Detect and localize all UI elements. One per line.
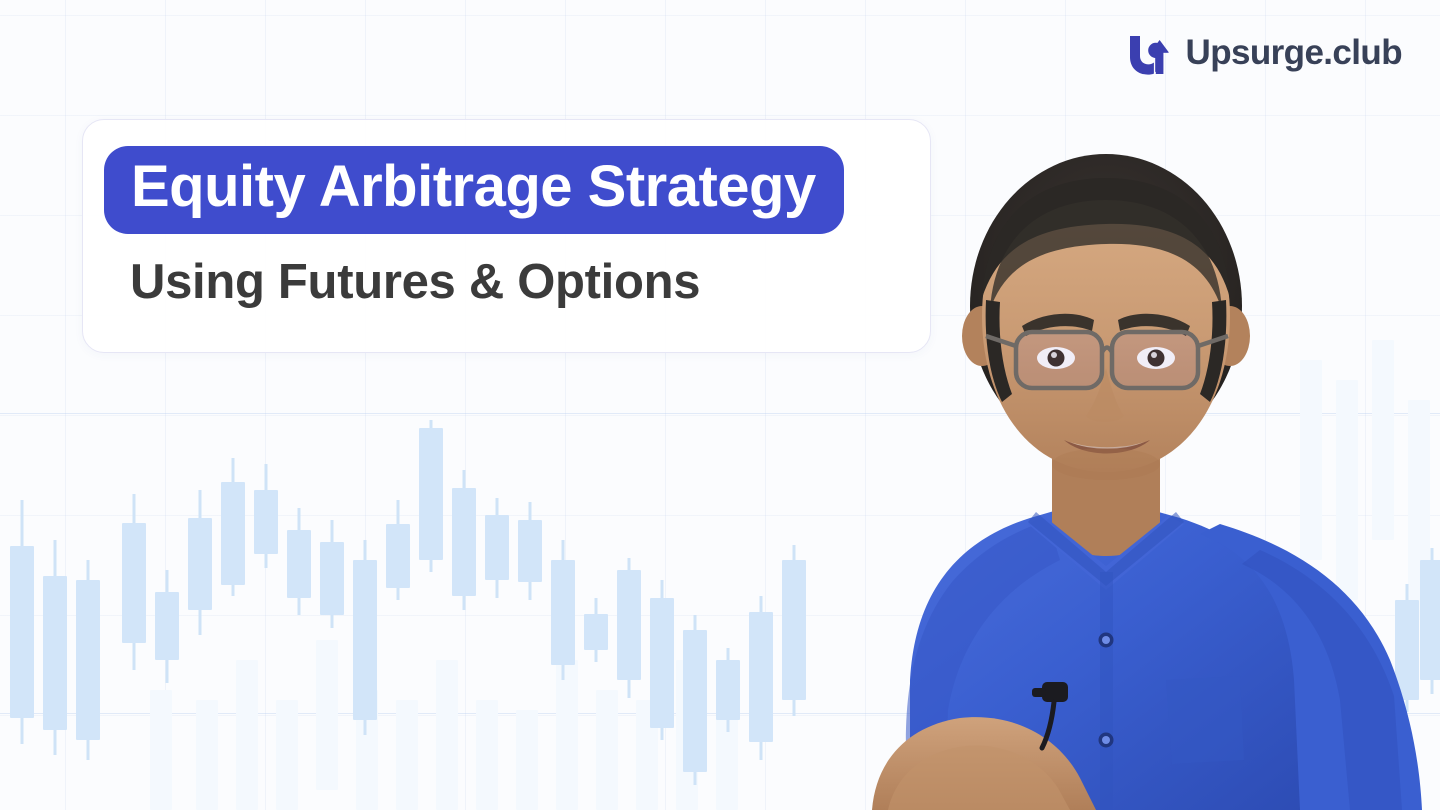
candlestick-body [316, 640, 338, 790]
candlestick-wick [1406, 584, 1409, 712]
candlestick [716, 648, 740, 732]
candlestick [254, 464, 278, 568]
candlestick [43, 540, 67, 755]
candlestick-background [396, 700, 418, 810]
candlestick-background [476, 700, 498, 810]
grid-line-major [0, 713, 1440, 714]
candlestick-body [122, 523, 146, 643]
candlestick-body [386, 524, 410, 588]
candlestick-body [716, 690, 738, 810]
candlestick-body [43, 576, 67, 730]
candlestick-wick [21, 500, 24, 744]
candlestick-body [617, 570, 641, 680]
candlestick [650, 580, 674, 740]
candlestick-wick [760, 596, 763, 760]
candlestick-background [676, 660, 698, 810]
candlestick [320, 520, 344, 628]
candlestick-background [276, 700, 298, 810]
candlestick-body [419, 428, 443, 560]
candlestick-wick [463, 470, 466, 610]
candlestick-body [10, 546, 34, 718]
candlestick-background [596, 690, 618, 810]
candlestick-body [485, 515, 509, 580]
candlestick-background [196, 700, 218, 810]
candlestick-body [749, 612, 773, 742]
candlestick-body [150, 690, 172, 810]
candlestick-background [150, 690, 172, 810]
candlestick [353, 540, 377, 735]
candlestick [749, 596, 773, 760]
candlestick [419, 420, 443, 572]
candlestick-background [316, 640, 338, 790]
title-card: Equity Arbitrage Strategy Using Futures … [82, 119, 931, 353]
candlestick [452, 470, 476, 610]
candlestick [221, 458, 245, 596]
brand-name-label: Upsurge.club [1186, 35, 1402, 70]
candlestick [551, 540, 575, 680]
candlestick-body [436, 660, 458, 810]
candlestick [287, 508, 311, 615]
candlestick-background [716, 690, 738, 810]
candlestick-background [236, 660, 258, 810]
candlestick-wick [430, 420, 433, 572]
candlestick-body [320, 542, 344, 615]
candlestick-background [1408, 400, 1430, 620]
candlestick-body [254, 490, 278, 554]
candlestick-wick [87, 560, 90, 760]
candlestick-body [396, 700, 418, 810]
candlestick-body [276, 700, 298, 810]
candlestick-body [287, 530, 311, 598]
candlestick-body [636, 700, 658, 810]
candlestick [518, 502, 542, 600]
candlestick [584, 598, 608, 662]
candlestick-wick [232, 458, 235, 596]
candlestick [122, 494, 146, 670]
candlestick-wick [298, 508, 301, 615]
page-subtitle: Using Futures & Options [130, 258, 700, 307]
candlestick-body [782, 560, 806, 700]
thumbnail-canvas: Equity Arbitrage Strategy Using Futures … [0, 0, 1440, 810]
candlestick-body [584, 614, 608, 650]
candlestick [386, 500, 410, 600]
candlestick-background [516, 710, 538, 810]
candlestick-body [676, 660, 698, 810]
brand-logo[interactable]: Upsurge.club [1125, 28, 1402, 76]
candlestick-body [155, 592, 179, 660]
candlestick-body [76, 580, 100, 740]
candlestick-wick [331, 520, 334, 628]
candlestick-wick [166, 570, 169, 683]
candlestick-wick [694, 615, 697, 785]
candlestick-background [356, 690, 378, 810]
candlestick-body [596, 690, 618, 810]
candlestick-wick [628, 558, 631, 698]
candlestick-body [221, 482, 245, 585]
candlestick-body [518, 520, 542, 582]
candlestick [155, 570, 179, 683]
candlestick-body [1395, 600, 1419, 700]
candlestick-wick [133, 494, 136, 670]
candlestick-body [1420, 560, 1440, 680]
candlestick-body [1372, 340, 1394, 540]
candlestick-wick [397, 500, 400, 600]
candlestick-background [556, 660, 578, 810]
candlestick-wick [562, 540, 565, 680]
candlestick-wick [595, 598, 598, 662]
title-pill: Equity Arbitrage Strategy [104, 146, 844, 234]
candlestick-wick [529, 502, 532, 600]
candlestick [1420, 548, 1440, 694]
candlestick [683, 615, 707, 785]
candlestick-body [650, 598, 674, 728]
candlestick-background [636, 700, 658, 810]
candlestick-wick [1431, 548, 1434, 694]
candlestick-body [188, 518, 212, 610]
candlestick-wick [727, 648, 730, 732]
grid-line-major [0, 413, 1440, 414]
candlestick [782, 545, 806, 716]
candlestick [485, 498, 509, 598]
candlestick-background [436, 660, 458, 810]
candlestick [188, 490, 212, 635]
candlestick-background [1372, 340, 1394, 540]
candlestick-body [683, 630, 707, 772]
upsurge-u-arrow-logo-icon [1125, 28, 1173, 76]
candlestick-body [196, 700, 218, 810]
candlestick [617, 558, 641, 698]
candlestick-body [551, 560, 575, 665]
candlestick-body [556, 660, 578, 810]
candlestick-wick [54, 540, 57, 755]
candlestick-body [356, 690, 378, 810]
candlestick-wick [265, 464, 268, 568]
candlestick-wick [793, 545, 796, 716]
candlestick-body [353, 560, 377, 720]
candlestick-body [1300, 360, 1322, 560]
candlestick-body [236, 660, 258, 810]
candlestick [10, 500, 34, 744]
candlestick-wick [661, 580, 664, 740]
candlestick-body [516, 710, 538, 810]
candlestick [1395, 584, 1419, 712]
candlestick-wick [496, 498, 499, 598]
candlestick-background [1300, 360, 1322, 560]
candlestick [76, 560, 100, 760]
candlestick-body [1408, 400, 1430, 620]
candlestick-wick [364, 540, 367, 735]
page-title: Equity Arbitrage Strategy [131, 158, 816, 216]
candlestick-wick [199, 490, 202, 635]
candlestick-body [452, 488, 476, 596]
candlestick-body [716, 660, 740, 720]
candlestick-body [476, 700, 498, 810]
